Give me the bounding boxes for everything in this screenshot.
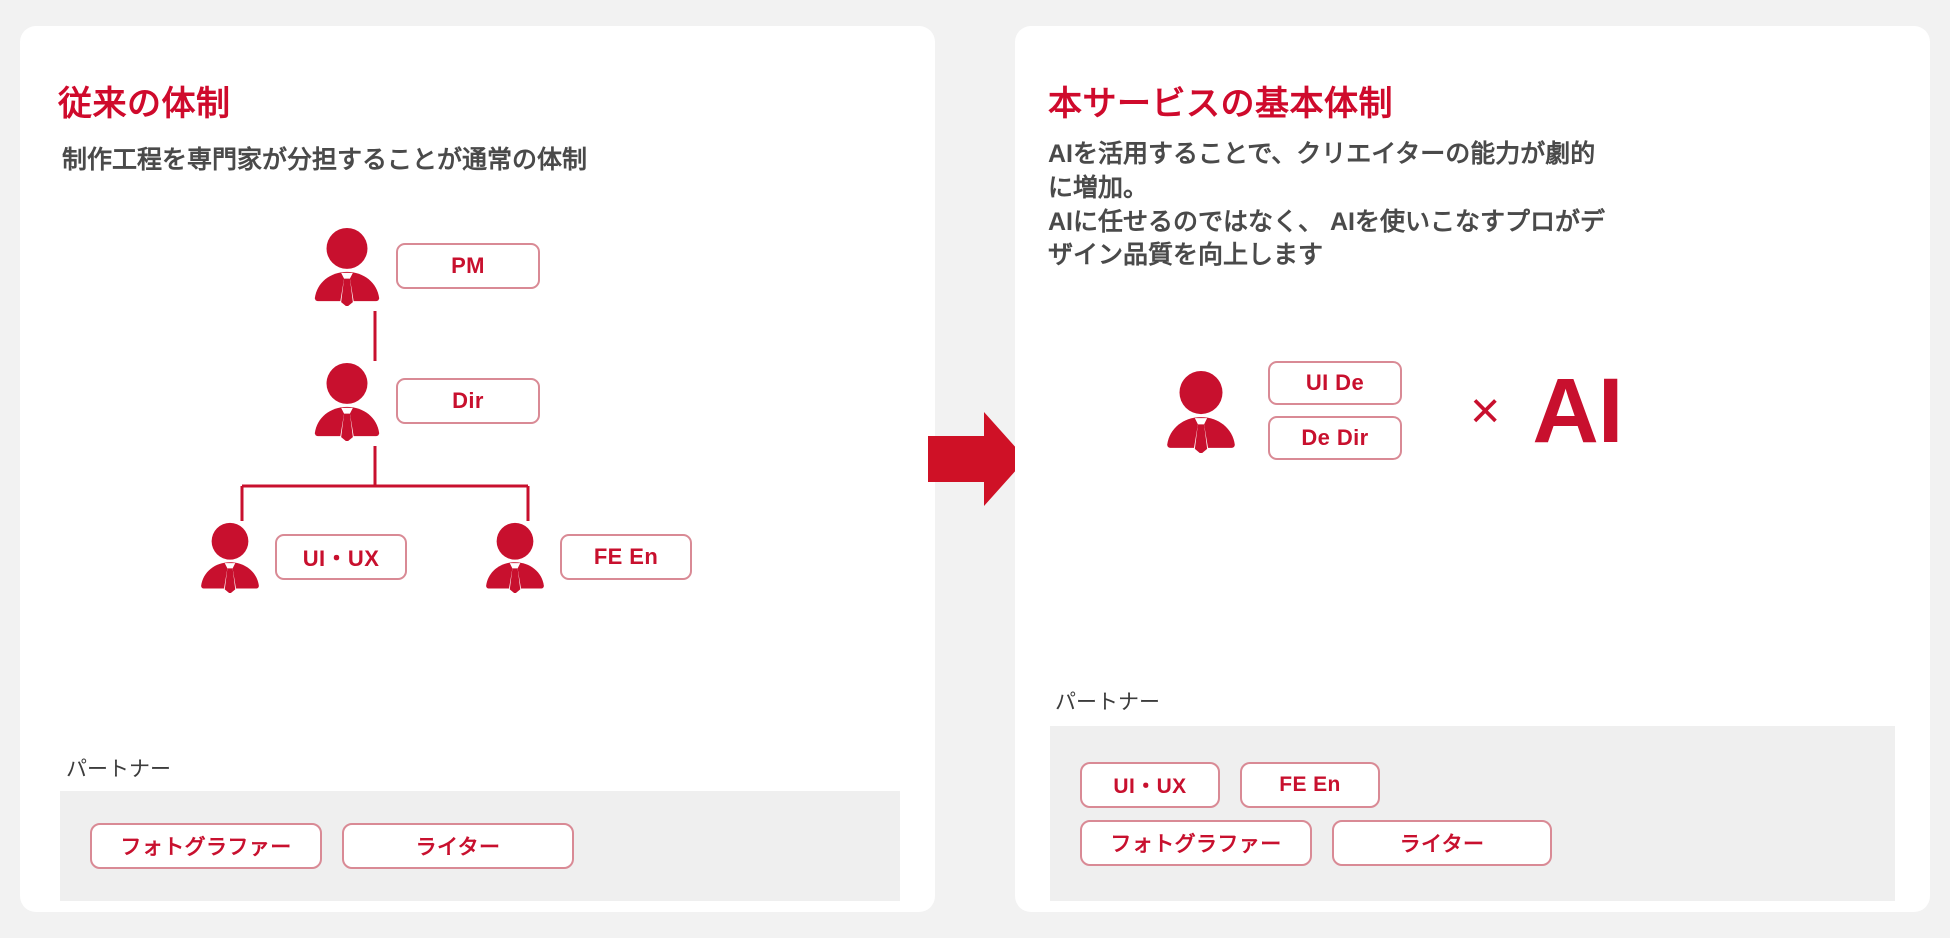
partner-rows-left: フォトグラファー ライター: [60, 823, 574, 869]
badge-uiux[interactable]: UI・UX: [275, 534, 407, 580]
comparison-diagram: 従来の体制 制作工程を専門家が分担することが通常の体制 PM: [0, 0, 1950, 938]
partner-label-left: パートナー: [66, 753, 171, 783]
core-team-group: UI De De Dir × AI: [1160, 361, 1622, 460]
multiply-icon: ×: [1470, 385, 1500, 437]
org-node-dir[interactable]: Dir: [308, 361, 540, 441]
core-role-badges: UI De De Dir: [1268, 361, 1402, 460]
badge-partner-uiux[interactable]: UI・UX: [1080, 762, 1220, 808]
partner-row: フォトグラファー ライター: [90, 823, 574, 869]
partner-row: UI・UX FE En: [1080, 762, 1552, 808]
person-icon: [308, 361, 386, 441]
badge-dir[interactable]: Dir: [396, 378, 540, 424]
lead-text-right: AIを活用することで、クリエイターの能力が劇的 に増加。 AIに任せるのではなく…: [1048, 138, 1708, 273]
badge-partner-fe-en[interactable]: FE En: [1240, 762, 1380, 808]
badge-pm[interactable]: PM: [396, 243, 540, 289]
badge-de-dir[interactable]: De Dir: [1268, 416, 1402, 460]
page-title-right: 本サービスの基本体制: [1048, 76, 1393, 125]
panel-service: 本サービスの基本体制 AIを活用することで、クリエイターの能力が劇的 に増加。 …: [1015, 26, 1930, 912]
partner-label-right: パートナー: [1055, 686, 1160, 716]
person-icon: [308, 226, 386, 306]
ai-label: AI: [1532, 365, 1622, 457]
person-icon: [480, 521, 550, 593]
panel-conventional: 従来の体制 制作工程を専門家が分担することが通常の体制 PM: [20, 26, 935, 912]
person-icon: [1160, 369, 1242, 453]
org-node-pm[interactable]: PM: [308, 226, 540, 306]
partner-row: フォトグラファー ライター: [1080, 820, 1552, 866]
badge-partner-writer[interactable]: ライター: [1332, 820, 1552, 866]
partner-band-right: UI・UX FE En フォトグラファー ライター: [1050, 726, 1895, 901]
badge-partner-photographer[interactable]: フォトグラファー: [1080, 820, 1312, 866]
org-node-fe-en[interactable]: FE En: [480, 521, 692, 593]
org-node-uiux[interactable]: UI・UX: [195, 521, 407, 593]
person-icon: [195, 521, 265, 593]
badge-photographer[interactable]: フォトグラファー: [90, 823, 322, 869]
partner-rows-right: UI・UX FE En フォトグラファー ライター: [1050, 762, 1552, 866]
badge-writer[interactable]: ライター: [342, 823, 574, 869]
partner-band-left: フォトグラファー ライター: [60, 791, 900, 901]
badge-ui-de[interactable]: UI De: [1268, 361, 1402, 405]
badge-fe-en[interactable]: FE En: [560, 534, 692, 580]
right-arrow-icon: [928, 408, 1026, 510]
